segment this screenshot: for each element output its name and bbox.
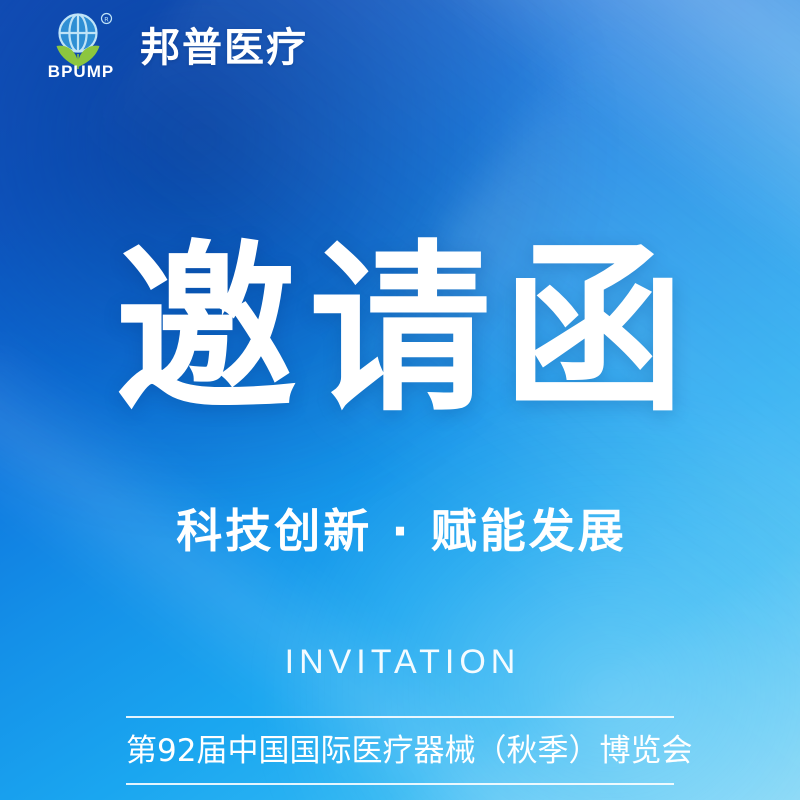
divider-bottom: [126, 783, 674, 785]
brand-name-cn: 邦普医疗: [140, 28, 308, 68]
event-bar: 第92届中国国际医疗器械（秋季）博览会: [126, 716, 674, 785]
slogan-text: 科技创新 · 赋能发展: [0, 508, 800, 554]
invitation-label: INVITATION: [0, 645, 800, 679]
page-title: 邀请函: [0, 238, 800, 424]
event-name: 第92届中国国际医疗器械（秋季）博览会: [126, 718, 674, 783]
poster-header: R 邦普医疗: [0, 0, 800, 96]
invitation-en-block: INVITATION: [0, 645, 800, 679]
subtitle-block: 科技创新 · 赋能发展: [0, 508, 800, 554]
main-title-block: 邀请函: [0, 238, 800, 424]
invitation-poster: R 邦普医疗 BPUMP 邀请函 科技创新 · 赋能发展 INVITATION …: [0, 0, 800, 800]
svg-text:R: R: [104, 15, 109, 23]
logo-wordmark: BPUMP: [44, 62, 118, 82]
